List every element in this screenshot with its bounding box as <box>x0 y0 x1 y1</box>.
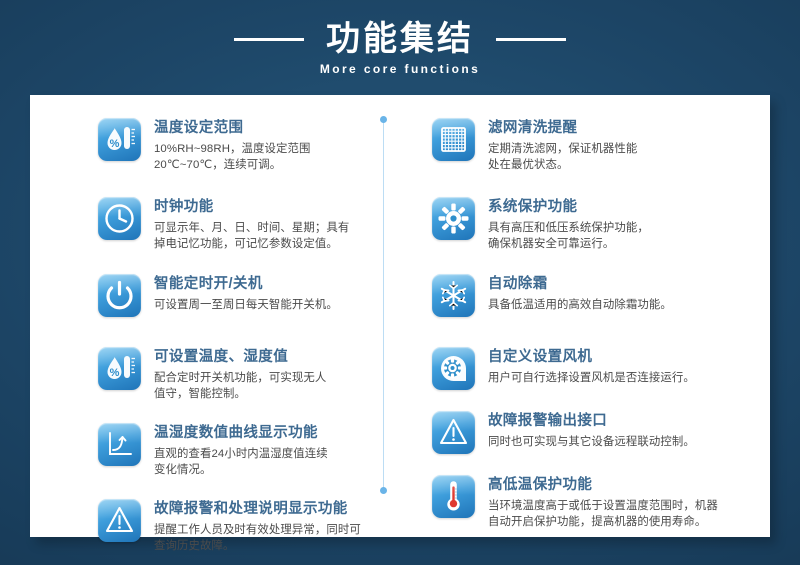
feature-text: 故障报警输出接口同时也可实现与其它设备远程联动控制。 <box>488 411 695 451</box>
feature-description-line: 可显示年、月、日、时间、星期；具有 <box>154 221 349 237</box>
feature-item[interactable]: 时钟功能可显示年、月、日、时间、星期；具有掉电记忆功能，可记忆参数设定值。 <box>98 197 388 252</box>
feature-heading: 温度设定范围 <box>154 119 310 138</box>
feature-heading: 可设置温度、湿度值 <box>154 348 326 367</box>
feature-description-line: 查询历史故障。 <box>154 539 361 555</box>
feature-item[interactable]: 高低温保护功能当环境温度高于或低于设置温度范围时，机器自动开启保护功能，提高机器… <box>432 475 742 530</box>
feature-item[interactable]: 滤网清洗提醒定期清洗滤网，保证机器性能处在最优状态。 <box>432 118 742 173</box>
feature-description: 当环境温度高于或低于设置温度范围时，机器自动开启保护功能，提高机器的使用寿命。 <box>488 499 718 530</box>
feature-text: 滤网清洗提醒定期清洗滤网，保证机器性能处在最优状态。 <box>488 118 637 173</box>
feature-item[interactable]: 自定义设置风机用户可自行选择设置风机是否连接运行。 <box>432 347 742 390</box>
feature-text: 温湿度数值曲线显示功能直观的查看24小时内温湿度值连续变化情况。 <box>154 423 328 478</box>
page-header: 功能集结 More core functions <box>0 0 800 95</box>
feature-description: 具备低温适用的高效自动除霜功能。 <box>488 298 672 314</box>
feature-heading: 自动除霜 <box>488 275 672 294</box>
humidity-thermometer-icon: % <box>98 118 141 161</box>
feature-item[interactable]: 故障报警和处理说明显示功能提醒工作人员及时有效处理异常，同时可查询历史故障。 <box>98 499 388 554</box>
rule-right-icon <box>496 38 566 41</box>
left-feature-column: %温度设定范围10%RH~98RH，温度设定范围20℃~70℃，连续可调。时钟功… <box>98 118 388 554</box>
gear-icon <box>432 197 475 240</box>
feature-description: 配合定时开关机功能，可实现无人值守，智能控制。 <box>154 371 326 402</box>
feature-text: 自定义设置风机用户可自行选择设置风机是否连接运行。 <box>488 347 695 387</box>
feature-description: 用户可自行选择设置风机是否连接运行。 <box>488 371 695 387</box>
feature-description-line: 配合定时开关机功能，可实现无人 <box>154 371 326 387</box>
feature-item[interactable]: 自动除霜具备低温适用的高效自动除霜功能。 <box>432 274 742 317</box>
page-subtitle: More core functions <box>0 62 800 76</box>
feature-item[interactable]: 系统保护功能具有高压和低压系统保护功能，确保机器安全可靠运行。 <box>432 197 742 252</box>
filter-mesh-icon <box>432 118 475 161</box>
feature-description-line: 确保机器安全可靠运行。 <box>488 237 649 253</box>
power-icon <box>98 274 141 317</box>
svg-text:%: % <box>110 367 120 379</box>
feature-text: 高低温保护功能当环境温度高于或低于设置温度范围时，机器自动开启保护功能，提高机器… <box>488 475 718 530</box>
thermometer-icon <box>432 475 475 518</box>
feature-heading: 高低温保护功能 <box>488 476 718 495</box>
feature-description-line: 20℃~70℃，连续可调。 <box>154 158 310 174</box>
feature-description-line: 变化情况。 <box>154 463 328 479</box>
warning-triangle-icon <box>432 411 475 454</box>
feature-description: 定期清洗滤网，保证机器性能处在最优状态。 <box>488 142 637 173</box>
feature-heading: 智能定时开/关机 <box>154 275 338 294</box>
snowflake-icon <box>432 274 475 317</box>
feature-heading: 故障报警输出接口 <box>488 412 695 431</box>
feature-text: 温度设定范围10%RH~98RH，温度设定范围20℃~70℃，连续可调。 <box>154 118 310 173</box>
feature-description-line: 同时也可实现与其它设备远程联动控制。 <box>488 435 695 451</box>
feature-description-line: 掉电记忆功能，可记忆参数设定值。 <box>154 237 349 253</box>
right-feature-column: 滤网清洗提醒定期清洗滤网，保证机器性能处在最优状态。系统保护功能具有高压和低压系… <box>432 118 742 530</box>
feature-item[interactable]: 温湿度数值曲线显示功能直观的查看24小时内温湿度值连续变化情况。 <box>98 423 388 478</box>
feature-description: 可设置周一至周日每天智能开关机。 <box>154 298 338 314</box>
warning-triangle-icon <box>98 499 141 542</box>
blower-fan-icon <box>432 347 475 390</box>
feature-item[interactable]: 智能定时开/关机可设置周一至周日每天智能开关机。 <box>98 274 388 317</box>
feature-item[interactable]: 故障报警输出接口同时也可实现与其它设备远程联动控制。 <box>432 411 742 454</box>
feature-description: 直观的查看24小时内温湿度值连续变化情况。 <box>154 447 328 478</box>
feature-item[interactable]: %温度设定范围10%RH~98RH，温度设定范围20℃~70℃，连续可调。 <box>98 118 388 173</box>
feature-description-line: 具备低温适用的高效自动除霜功能。 <box>488 298 672 314</box>
rule-left-icon <box>234 38 304 41</box>
feature-description-line: 处在最优状态。 <box>488 158 637 174</box>
feature-description-line: 具有高压和低压系统保护功能， <box>488 221 649 237</box>
feature-heading: 故障报警和处理说明显示功能 <box>154 500 361 519</box>
feature-description: 同时也可实现与其它设备远程联动控制。 <box>488 435 695 451</box>
svg-text:%: % <box>110 138 120 150</box>
feature-heading: 时钟功能 <box>154 198 349 217</box>
feature-text: 故障报警和处理说明显示功能提醒工作人员及时有效处理异常，同时可查询历史故障。 <box>154 499 361 554</box>
feature-description: 10%RH~98RH，温度设定范围20℃~70℃，连续可调。 <box>154 142 310 173</box>
feature-text: 时钟功能可显示年、月、日、时间、星期；具有掉电记忆功能，可记忆参数设定值。 <box>154 197 349 252</box>
feature-description: 可显示年、月、日、时间、星期；具有掉电记忆功能，可记忆参数设定值。 <box>154 221 349 252</box>
feature-description-line: 自动开启保护功能，提高机器的使用寿命。 <box>488 515 718 531</box>
feature-heading: 滤网清洗提醒 <box>488 119 637 138</box>
feature-heading: 自定义设置风机 <box>488 348 695 367</box>
feature-description-line: 定期清洗滤网，保证机器性能 <box>488 142 637 158</box>
feature-heading: 温湿度数值曲线显示功能 <box>154 424 328 443</box>
humidity-thermometer-icon: % <box>98 347 141 390</box>
feature-description-line: 用户可自行选择设置风机是否连接运行。 <box>488 371 695 387</box>
feature-description-line: 可设置周一至周日每天智能开关机。 <box>154 298 338 314</box>
feature-description-line: 当环境温度高于或低于设置温度范围时，机器 <box>488 499 718 515</box>
feature-text: 系统保护功能具有高压和低压系统保护功能，确保机器安全可靠运行。 <box>488 197 649 252</box>
page-title: 功能集结 <box>326 19 474 59</box>
feature-description-line: 提醒工作人员及时有效处理异常，同时可 <box>154 523 361 539</box>
feature-description: 具有高压和低压系统保护功能，确保机器安全可靠运行。 <box>488 221 649 252</box>
feature-text: 智能定时开/关机可设置周一至周日每天智能开关机。 <box>154 274 338 314</box>
feature-description-line: 值守，智能控制。 <box>154 387 326 403</box>
feature-text: 自动除霜具备低温适用的高效自动除霜功能。 <box>488 274 672 314</box>
page-root: 功能集结 More core functions %温度设定范围10%RH~98… <box>0 0 800 565</box>
feature-text: 可设置温度、湿度值配合定时开关机功能，可实现无人值守，智能控制。 <box>154 347 326 402</box>
feature-description-line: 直观的查看24小时内温湿度值连续 <box>154 447 328 463</box>
feature-heading: 系统保护功能 <box>488 198 649 217</box>
clock-icon <box>98 197 141 240</box>
feature-description: 提醒工作人员及时有效处理异常，同时可查询历史故障。 <box>154 523 361 554</box>
curve-chart-icon <box>98 423 141 466</box>
feature-description-line: 10%RH~98RH，温度设定范围 <box>154 142 310 158</box>
title-row: 功能集结 <box>0 16 800 62</box>
feature-item[interactable]: %可设置温度、湿度值配合定时开关机功能，可实现无人值守，智能控制。 <box>98 347 388 402</box>
